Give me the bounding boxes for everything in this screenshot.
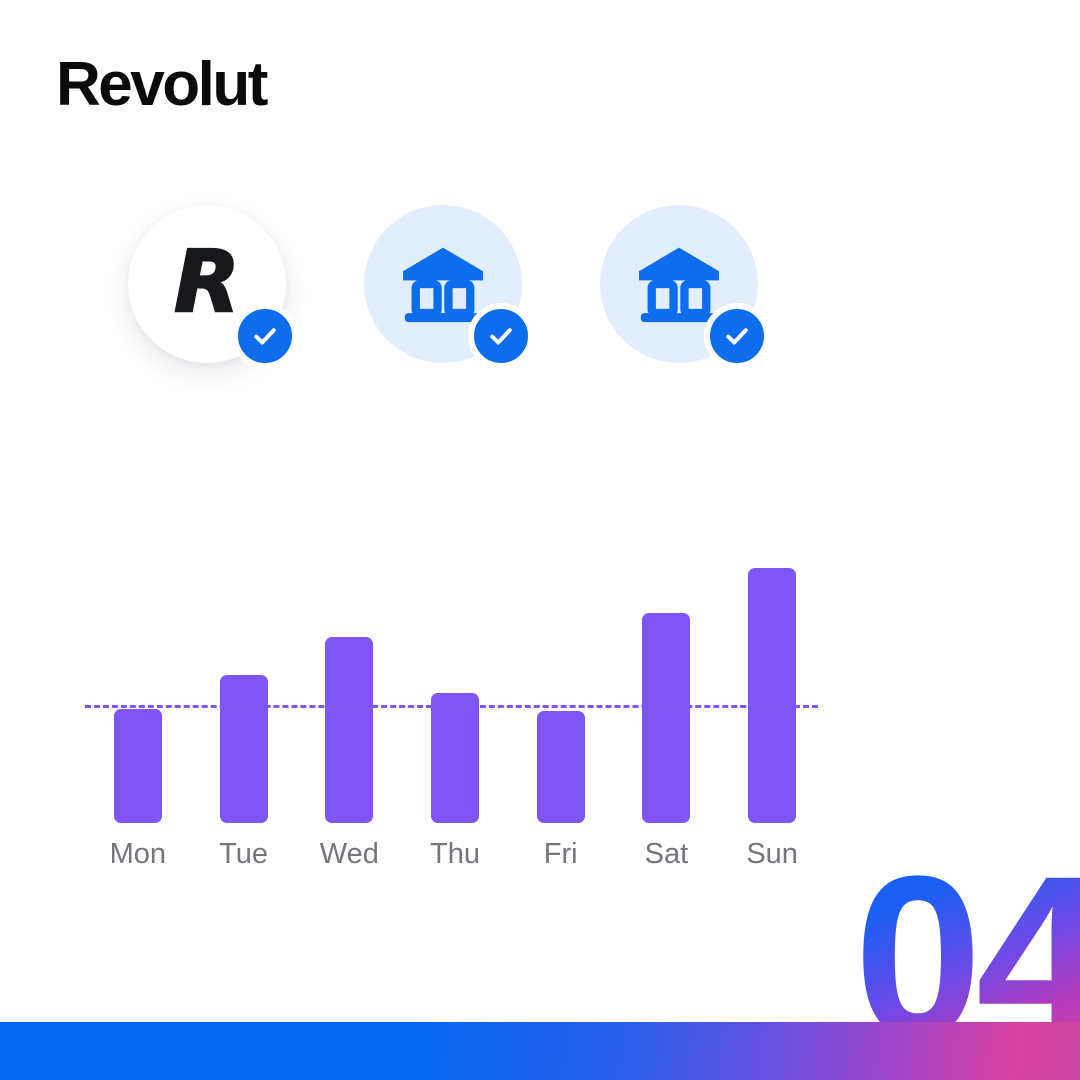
bar-wed[interactable] [325, 637, 373, 823]
average-line [85, 705, 818, 708]
account-chip-revolut[interactable]: R [128, 205, 286, 363]
bottom-brand-bar [0, 1022, 1080, 1080]
x-label-mon: Mon [83, 838, 193, 871]
revolut-wordmark: Revolut [56, 54, 266, 116]
bar-fri[interactable] [537, 711, 585, 823]
verified-badge [468, 303, 534, 369]
x-label-sat: Sat [611, 838, 721, 871]
bar-thu[interactable] [431, 693, 479, 823]
bank-icon [399, 244, 487, 324]
verified-badge [704, 303, 770, 369]
chart-x-axis-labels: MonTueWedThuFriSatSun [85, 838, 825, 878]
bank-icon [635, 244, 723, 324]
slide-canvas: Revolut R [0, 0, 1080, 1080]
bar-mon[interactable] [114, 709, 162, 823]
weekly-bar-chart [85, 548, 825, 823]
bar-tue[interactable] [220, 675, 268, 823]
x-label-thu: Thu [400, 838, 510, 871]
account-chip-bank-1[interactable] [364, 205, 522, 363]
check-icon [486, 321, 516, 351]
x-label-wed: Wed [294, 838, 404, 871]
bar-sat[interactable] [642, 613, 690, 823]
verified-badge [232, 303, 298, 369]
x-label-tue: Tue [189, 838, 299, 871]
x-label-fri: Fri [506, 838, 616, 871]
x-label-sun: Sun [717, 838, 827, 871]
revolut-r-icon: R [174, 239, 240, 325]
account-chip-bank-2[interactable] [600, 205, 758, 363]
bar-sun[interactable] [748, 568, 796, 823]
check-icon [722, 321, 752, 351]
connected-accounts-row: R [128, 205, 758, 363]
check-icon [250, 321, 280, 351]
